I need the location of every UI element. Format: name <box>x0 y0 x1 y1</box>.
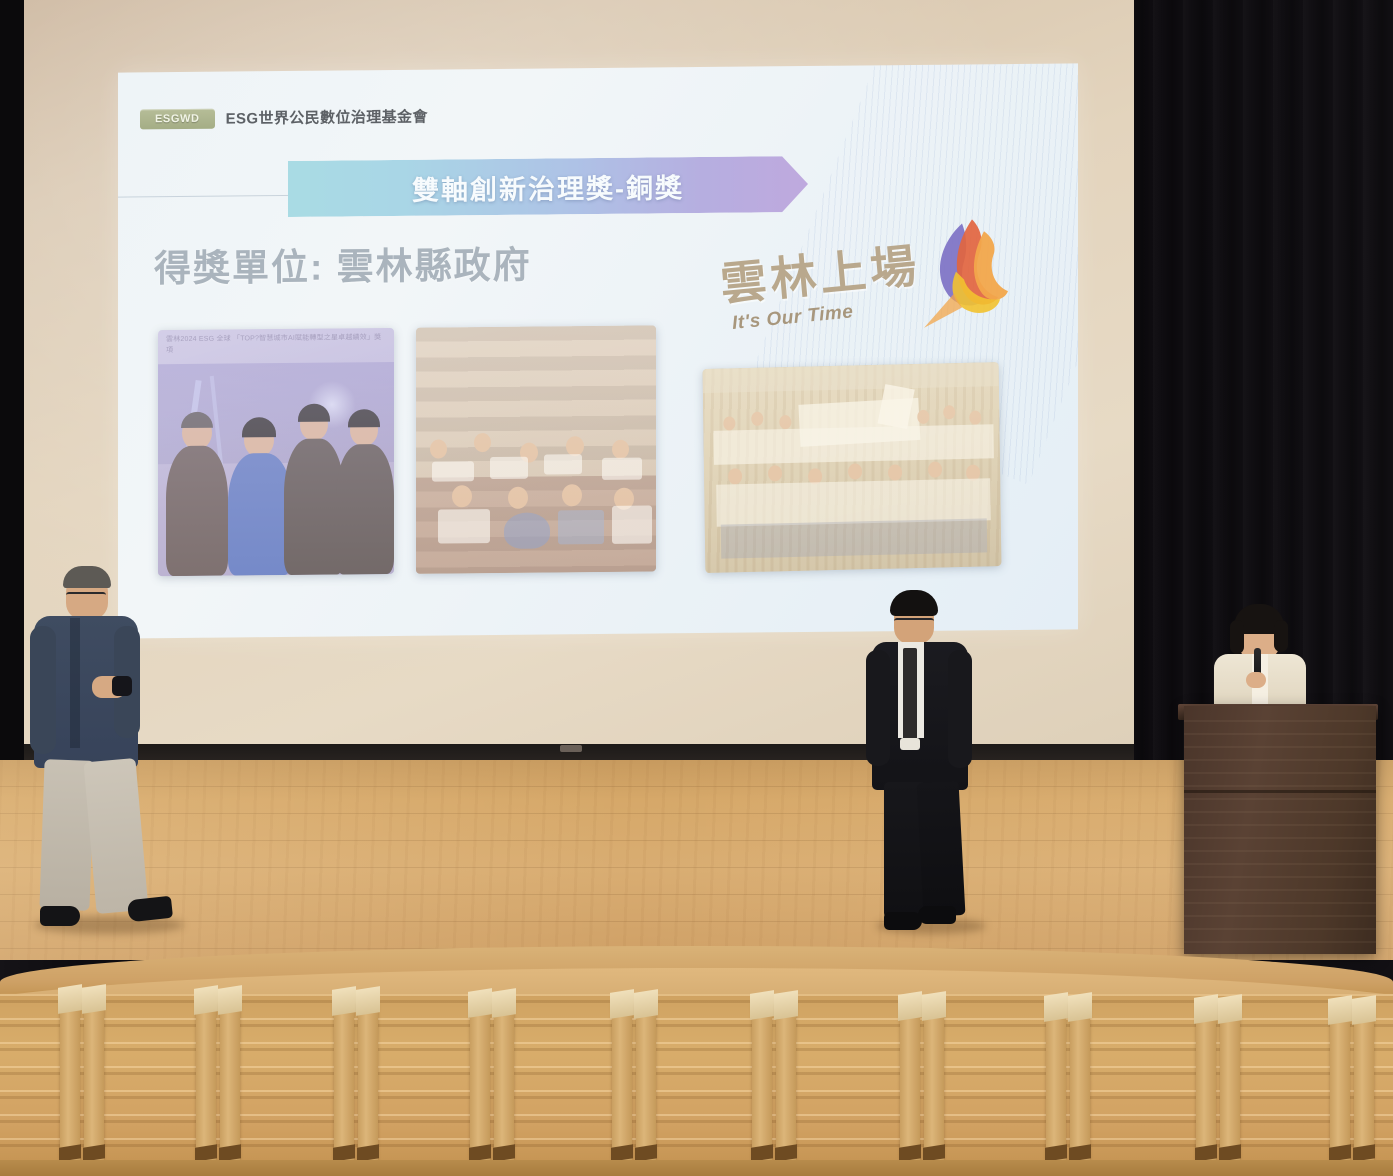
stage-front-post <box>60 1004 80 1160</box>
podium-panel-seam <box>1184 790 1376 793</box>
stage-front-post <box>470 1004 490 1160</box>
podium-wood-grain <box>1184 720 1376 954</box>
stage-front-post-cap <box>898 991 922 1021</box>
stage-front-post-cap <box>1352 995 1376 1025</box>
esgwd-logo-badge: ESGWD <box>140 108 215 129</box>
stage-front-post-cap <box>1328 995 1352 1025</box>
stage-front-post-cap <box>1044 992 1068 1022</box>
stage-front-post <box>358 1004 378 1160</box>
stage-front-post-cap <box>468 988 492 1018</box>
stage-front-post <box>752 1004 772 1160</box>
stage-front-post-cap <box>774 990 798 1020</box>
stage-front-post-cap <box>492 988 516 1018</box>
stage-front-post <box>1330 1004 1350 1160</box>
stage-front-post-cap <box>1068 992 1092 1022</box>
award-title-banner: 雙軸創新治理獎-銅獎 <box>288 156 808 217</box>
photo-students-banner <box>703 362 1002 573</box>
award-title-text: 雙軸創新治理獎-銅獎 <box>412 166 684 208</box>
stage-front-post-cap <box>356 986 380 1016</box>
foundation-name: ESG世界公民數位治理基金會 <box>226 106 428 129</box>
stage-front-post-cap <box>82 984 106 1014</box>
stage-front-post <box>1070 1004 1090 1160</box>
curtain-left-edge <box>0 0 26 760</box>
auditorium-scene: ESGWD ESG世界公民數位治理基金會 雙軸創新治理獎-銅獎 得獎單位: 雲林… <box>0 0 1393 1176</box>
stage-front-post <box>776 1004 796 1160</box>
screen-frame-nub-icon <box>560 745 582 752</box>
stage-front-post-cap <box>750 990 774 1020</box>
stage-front-post-cap <box>1194 994 1218 1024</box>
stage-front-post <box>84 1004 104 1160</box>
stage-front-post <box>220 1004 240 1160</box>
stage-front-post-cap <box>194 985 218 1015</box>
presentation-slide: ESGWD ESG世界公民數位治理基金會 雙軸創新治理獎-銅獎 得獎單位: 雲林… <box>118 63 1078 638</box>
stage-front-post-cap <box>332 986 356 1016</box>
stage-front-post <box>196 1004 216 1160</box>
stage-front-post-cap <box>218 985 242 1015</box>
slide-brand-row: ESGWD ESG世界公民數位治理基金會 <box>140 106 428 130</box>
photo-group-auditorium <box>416 325 656 573</box>
stage-front-post <box>612 1004 632 1160</box>
stage-front-post <box>494 1004 514 1160</box>
photo-award-ceremony: 雲林2024 ESG 全球 「TOP?智慧城市AI賦能轉型之星卓越績效」獎項 <box>158 328 394 576</box>
stage-front-post <box>1354 1004 1374 1160</box>
floor-base-strip <box>0 1160 1393 1176</box>
stage-front-post <box>334 1004 354 1160</box>
stage-front-post <box>1196 1004 1216 1160</box>
stage-front-post <box>1220 1004 1240 1160</box>
flame-bird-icon <box>910 209 1030 330</box>
stage-front-post <box>636 1004 656 1160</box>
stage-front-post-cap <box>922 991 946 1021</box>
award-recipient-headline: 得獎單位: 雲林縣政府 <box>154 235 532 293</box>
stage-front-post <box>1046 1004 1066 1160</box>
stage-front-post-cap <box>1218 994 1242 1024</box>
stage-front-post-cap <box>58 984 82 1014</box>
stage-front-post-cap <box>634 989 658 1019</box>
stage-front-post-cap <box>610 989 634 1019</box>
stage-front-post <box>924 1004 944 1160</box>
yunlin-logo-lockup: 雲林上場 It's Our Time <box>714 219 1014 362</box>
yunlin-logo-chinese: 雲林上場 <box>718 229 923 314</box>
stage-front-post <box>900 1004 920 1160</box>
